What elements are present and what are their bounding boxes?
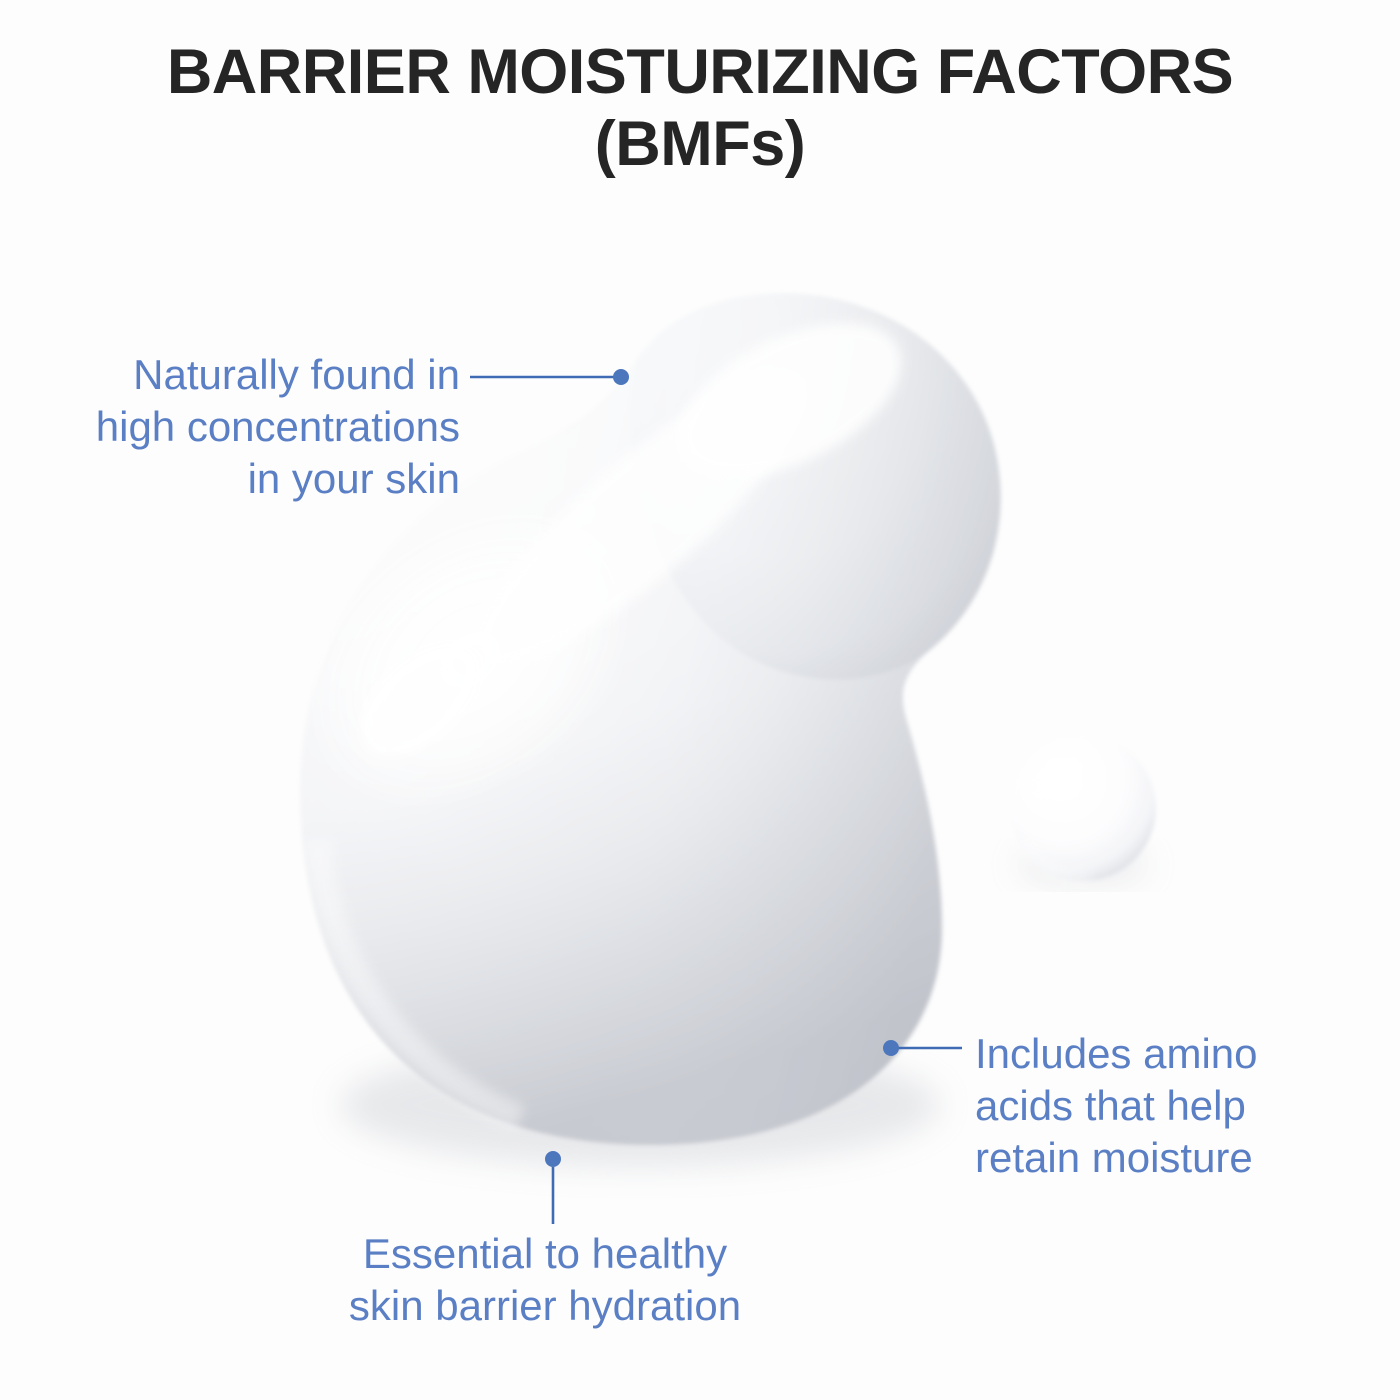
callout-includes-amino-acids: Includes amino acids that help retain mo… (975, 1028, 1305, 1184)
infographic-canvas: BARRIER MOISTURIZING FACTORS (BMFs) (0, 0, 1400, 1400)
callout-leader-lines (0, 0, 1400, 1400)
leader-essential-hydration (545, 1151, 561, 1224)
leader-includes-amino-acids (883, 1040, 962, 1056)
callout-naturally-found: Naturally found in high concentrations i… (28, 349, 460, 505)
leader-dot-icon (545, 1151, 561, 1167)
leader-dot-icon (613, 369, 629, 385)
leader-dot-icon (883, 1040, 899, 1056)
callout-essential-hydration: Essential to healthy skin barrier hydrat… (300, 1228, 790, 1332)
leader-naturally-found (470, 369, 629, 385)
